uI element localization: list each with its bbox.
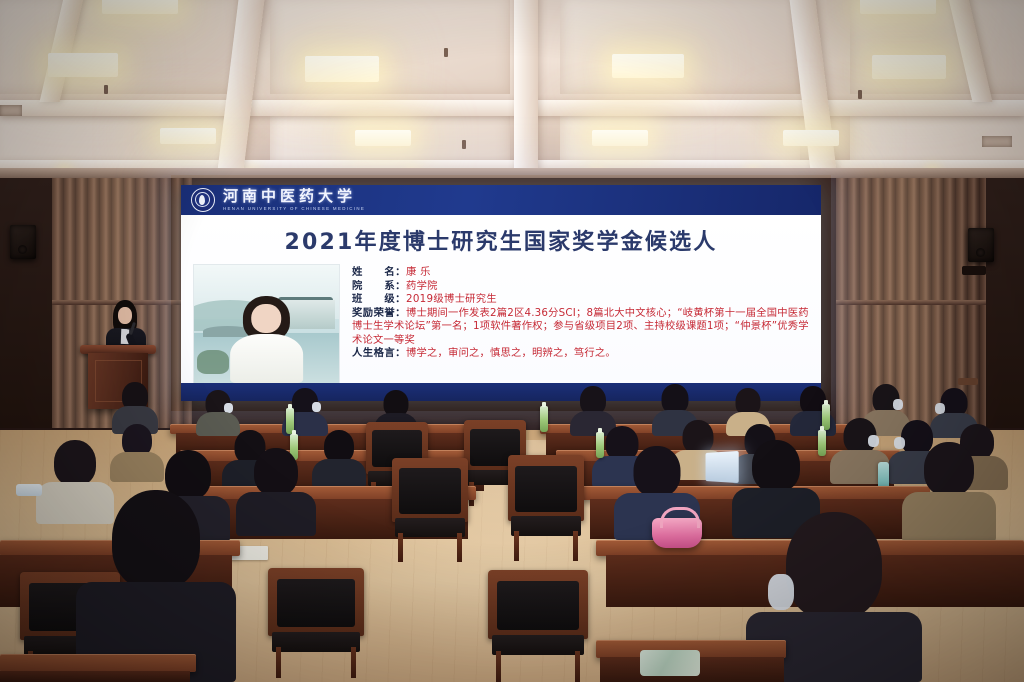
- ceiling-light-panel: [612, 54, 684, 78]
- sprinkler-head-icon: [104, 85, 108, 94]
- university-seal-icon: [191, 188, 215, 212]
- slide-footer-band: [181, 383, 821, 401]
- chair: [508, 455, 584, 561]
- ceiling-light-panel: [355, 130, 411, 146]
- wall-crown-trim: [0, 168, 1024, 178]
- table-row: [0, 671, 190, 682]
- face-mask: [768, 574, 794, 610]
- ceiling-light-panel: [872, 55, 946, 79]
- audience-torso: [312, 459, 366, 488]
- info-value-motto: 博学之，审问之，慎思之，明辨之，笃行之。: [406, 347, 616, 359]
- ceiling-light-panel: [48, 53, 118, 77]
- audience-head: [634, 446, 681, 497]
- water-bottle: [596, 432, 604, 458]
- university-name-en: HENAN UNIVERSITY OF CHINESE MEDICINE: [223, 207, 365, 211]
- university-name-block: 河南中医药大学 HENAN UNIVERSITY OF CHINESE MEDI…: [223, 189, 365, 211]
- info-row-department: 院 系：药学院: [352, 280, 809, 294]
- info-value-name: 康 乐: [406, 266, 431, 278]
- sprinkler-head-icon: [462, 140, 466, 149]
- audience-head: [786, 512, 882, 620]
- face-mask: [312, 402, 321, 412]
- info-label-motto: 人生格言：: [352, 347, 406, 359]
- audience-head: [112, 490, 200, 590]
- folded-cloth: [640, 650, 700, 676]
- slide-title: 2021年度博士研究生国家奖学金候选人: [181, 224, 821, 256]
- slide-header-band: 河南中医药大学 HENAN UNIVERSITY OF CHINESE MEDI…: [181, 185, 821, 215]
- audience-torso: [236, 492, 316, 536]
- info-row-honors: 奖励荣誉：博士期间一作发表2篇2区4.36分SCI；8篇北大中文核心；“岐黄杯第…: [352, 307, 809, 348]
- university-name-cn: 河南中医药大学: [223, 189, 365, 204]
- chair: [268, 568, 364, 678]
- info-label-honors: 奖励荣誉：: [352, 307, 406, 319]
- info-value-honors: 博士期间一作发表2篇2区4.36分SCI；8篇北大中文核心；“岐黄杯第十一届全国…: [352, 307, 809, 346]
- chair: [392, 458, 468, 562]
- tissue-pack: [16, 484, 42, 496]
- wall-speaker-left: [10, 225, 36, 259]
- pink-handbag: [652, 518, 702, 548]
- audience-head: [254, 448, 298, 496]
- coffered-ceiling: [0, 0, 1024, 176]
- wall-equipment-bracket: [962, 266, 986, 275]
- presenter-face: [118, 307, 132, 324]
- candidate-info-block: 姓 名：康 乐 院 系：药学院 班 级：2019级博士研究生 奖励荣誉：博士期间…: [352, 264, 809, 384]
- audience-head: [924, 442, 974, 496]
- sprinkler-head-icon: [858, 90, 862, 99]
- slide-body: 2021年度博士研究生国家奖学金候选人: [181, 215, 821, 383]
- air-vent: [982, 136, 1012, 147]
- ceiling-light-panel: [783, 130, 839, 146]
- face-mask: [893, 399, 903, 410]
- info-value-class: 2019级博士研究生: [406, 293, 497, 305]
- wall-horizontal-band-right: [836, 300, 986, 305]
- ceiling-light-panel: [592, 130, 648, 146]
- audience-member: [312, 430, 366, 488]
- candidate-photo: [193, 264, 340, 384]
- chair: [488, 570, 588, 682]
- wall-dark-left: [0, 178, 56, 428]
- info-row-name: 姓 名：康 乐: [352, 266, 809, 280]
- ceiling-light-panel: [305, 56, 379, 82]
- audience-head: [752, 440, 800, 492]
- ceiling-light-panel: [102, 0, 178, 14]
- wall-outlet-plate: [958, 378, 978, 385]
- info-value-department: 药学院: [406, 280, 438, 292]
- projection-screen: 河南中医药大学 HENAN UNIVERSITY OF CHINESE MEDI…: [181, 185, 821, 401]
- table-row: [0, 654, 196, 672]
- info-row-motto: 人生格言：博学之，审问之，慎思之，明辨之，笃行之。: [352, 347, 809, 361]
- conference-hall-photo: 河南中医药大学 HENAN UNIVERSITY OF CHINESE MEDI…: [0, 0, 1024, 682]
- info-label-department: 院 系：: [352, 280, 406, 292]
- water-bottle: [540, 406, 548, 432]
- slide-content-columns: 姓 名：康 乐 院 系：药学院 班 级：2019级博士研究生 奖励荣誉：博士期间…: [181, 264, 821, 384]
- audience-member: [236, 448, 316, 536]
- info-label-name: 姓 名：: [352, 266, 406, 278]
- wall-dark-right: [980, 178, 1024, 428]
- face-mask: [868, 435, 879, 447]
- ceiling-light-panel: [160, 128, 216, 144]
- audience-head: [54, 440, 96, 486]
- info-label-class: 班 级：: [352, 293, 406, 305]
- ceiling-light-panel: [860, 0, 936, 14]
- sprinkler-head-icon: [444, 48, 448, 57]
- info-row-class: 班 级：2019级博士研究生: [352, 293, 809, 307]
- wall-speaker-right: [968, 228, 994, 262]
- air-vent: [0, 105, 22, 116]
